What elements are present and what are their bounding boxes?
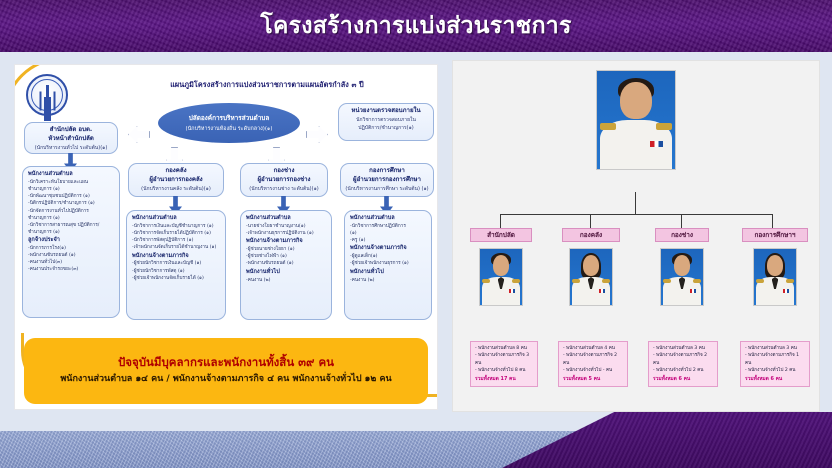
dept-2-group-2-name: พนักงานทั่วไป	[246, 268, 327, 277]
list-item: ชำนาญการ (๑)	[28, 215, 115, 222]
list-item: -ผู้ช่วยนักวิชาการเงินและบัญชี (๑)	[132, 260, 221, 267]
dept-0-subtitle: (นักบริหารงานทั่วไป ระดับต้น)(๑)	[29, 145, 113, 152]
dept-3-subtitle: (นักบริหารงานการศึกษา ระดับต้น) (๑)	[345, 186, 429, 193]
dept-2-group-1-name: พนักงานจ้างตามภารกิจ	[246, 237, 327, 246]
avatar-epaulette-left	[572, 279, 580, 283]
node-internal-audit: หน่วยงานตรวจสอบภายใน นักวิชาการตรวจสอบภา…	[338, 103, 434, 141]
list-item: -เจ้าพนักงานธุรการปฏิบัติงาน (๑)	[246, 230, 327, 237]
list-item: ชำนาญการ (๑)	[28, 229, 115, 236]
avatar-epaulette-left	[756, 279, 764, 283]
avatar-head	[493, 255, 510, 276]
node-chief-title: ปลัดองค์การบริหารส่วนตำบล	[189, 113, 270, 123]
list-item: -ผู้ช่วยนักวิชาการพัสดุ (๑)	[132, 268, 221, 275]
staff-3-stats: - พนักงานส่วนตำบล 3 คน - พนักงานจ้างตามภ…	[740, 341, 810, 387]
stat-line: - พนักงานส่วนตำบล 3 คน	[653, 345, 713, 352]
staff-0-photo	[479, 248, 523, 306]
avatar-ribbon-badge	[650, 141, 662, 148]
staff-2-photo	[660, 248, 704, 306]
list-item: -คนงานประจำรถขยะ(๓)	[28, 266, 115, 273]
list-item: -ผู้ช่วยนายช่างโยธา (๑)	[246, 246, 327, 253]
avatar-head	[583, 255, 600, 276]
list-item: -ผู้ช่วยช่างไฟฟ้า (๑)	[246, 253, 327, 260]
list-item: -นักวิชาการสาธารณสุข ปฏิบัติการ/	[28, 222, 115, 229]
stat-line: - พนักงานจ้างตามภารกิจ 3 คน	[475, 352, 533, 367]
slide-header: โครงสร้างการแบ่งส่วนราชการ	[0, 0, 832, 52]
dept-0-group-1-name: ลูกจ้างประจำ	[28, 236, 115, 245]
list-dept-education-staff: พนักงานส่วนตำบล -นักวิชาการศึกษาปฏิบัติก…	[344, 210, 432, 320]
dept-0-title: สำนักปลัด อบต.	[29, 126, 113, 135]
staff-card-works[interactable]: กองช่าง	[655, 228, 709, 242]
dept-2-subtitle: (นักบริหารงานช่าง ระดับต้น)(๑)	[245, 186, 323, 193]
dept-1-title2: ผู้อำนวยการกองคลัง	[133, 176, 219, 185]
audit-title: หน่วยงานตรวจสอบภายใน	[343, 107, 429, 116]
list-item: -นักพัฒนาชุมชนปฏิบัติการ (๑)	[28, 193, 115, 200]
staff-2-dept: กองช่าง	[655, 228, 709, 242]
list-item: ชำนาญการ (๑)	[28, 186, 115, 193]
avatar-epaulette-right	[602, 279, 610, 283]
avatar-epaulette-left	[482, 279, 490, 283]
summary-banner: ปัจจุบันมีบุคลากรและพนักงานทั้งสิ้น ๓๙ ค…	[24, 338, 428, 404]
list-item: -พนักงานขับรถยนต์ (๑)	[246, 260, 327, 267]
avatar-epaulette-left	[663, 279, 671, 283]
list-item: -นิติกรปฏิบัติการ/ชำนาญการ (๑)	[28, 200, 115, 207]
list-dept-works-staff: พนักงานส่วนตำบล -นายช่างโยธาชำนาญงาน(๑) …	[240, 210, 332, 320]
avatar-head	[767, 255, 784, 276]
avatar-head	[620, 82, 651, 119]
dept-1-title: กองคลัง	[133, 167, 219, 176]
avatar-epaulette-right	[512, 279, 520, 283]
connector-drop-1	[590, 214, 591, 228]
node-dept-finance: กองคลัง ผู้อำนวยการกองคลัง (นักบริหารงาน…	[128, 163, 224, 197]
connector-horizontal	[500, 214, 772, 215]
staff-card-office[interactable]: สำนักปลัด	[470, 228, 532, 242]
stat-line: - พนักงานจ้างทั่วไป 8 คน	[475, 367, 533, 374]
staff-1-dept: กองคลัง	[562, 228, 620, 242]
staff-0-stats: - พนักงานส่วนตำบล 8 คน - พนักงานจ้างตามภ…	[470, 341, 538, 387]
list-item: -นักวิชาการศึกษาปฏิบัติการ	[350, 223, 427, 230]
summary-breakdown-line: พนักงานส่วนตำบล ๑๔ คน / พนักงานจ้างตามภา…	[60, 373, 391, 387]
avatar-ribbon-badge	[783, 289, 790, 293]
avatar-epaulette-right	[693, 279, 701, 283]
staff-card-education[interactable]: กองการศึกษาฯ	[742, 228, 808, 242]
dept-1-group-1-name: พนักงานจ้างตามภารกิจ	[132, 252, 221, 261]
dept-0-title2: หัวหน้าสำนักปลัด	[29, 135, 113, 144]
dept-3-title2: ผู้อำนวยการกองการศึกษา	[345, 176, 429, 185]
list-dept-office-staff: พนักงานส่วนตำบล -นักวิเคราะห์นโยบายและแผ…	[22, 166, 120, 318]
list-item: -ครู (๑)	[350, 237, 427, 244]
list-item: -คนงาน (๒)	[246, 277, 327, 284]
stat-line: - พนักงานจ้างทั่วไป - คน	[563, 367, 623, 374]
node-dept-education: กองการศึกษา ผู้อำนวยการกองการศึกษา (นักบ…	[340, 163, 434, 197]
connector-drop-2	[681, 214, 682, 228]
avatar-ribbon-badge	[509, 289, 516, 293]
chief-photo	[596, 70, 676, 170]
list-item: -คนงาน (๒)	[350, 277, 427, 284]
list-item: -นักวิชาการพัสดุปฏิบัติการ (๑)	[132, 237, 221, 244]
node-dept-office: สำนักปลัด อบต. หัวหน้าสำนักปลัด (นักบริห…	[24, 122, 118, 154]
avatar-epaulette-right	[656, 123, 672, 130]
list-item: -นักจัดการงานทั่วไปปฏิบัติการ	[28, 208, 115, 215]
list-item: -ผู้ช่วยเจ้าพนักงานจัดเก็บรายได้ (๑)	[132, 275, 221, 282]
stat-line: - พนักงานจ้างตามภารกิจ 2 คน	[563, 352, 623, 367]
list-item: -นายช่างโยธาชำนาญงาน(๑)	[246, 223, 327, 230]
staff-0-dept: สำนักปลัด	[470, 228, 532, 242]
audit-subtitle-1: นักวิชาการตรวจสอบภายใน	[343, 117, 429, 124]
dept-1-group-0-name: พนักงานส่วนตำบล	[132, 214, 221, 223]
summary-total-line: ปัจจุบันมีบุคลากรและพนักงานทั้งสิ้น ๓๙ ค…	[118, 355, 334, 370]
list-item: -นักวิเคราะห์นโยบายและแผน	[28, 179, 115, 186]
stat-line: - พนักงานส่วนตำบล 8 คน	[475, 345, 533, 352]
stat-total: รวมทั้งหมด 17 คน	[475, 375, 533, 383]
chart-heading: แผนภูมิโครงสร้างการแบ่งส่วนราชการตามแผนอ…	[112, 80, 422, 91]
dept-2-title2: ผู้อำนวยการกองช่าง	[245, 176, 323, 185]
staff-2-stats: - พนักงานส่วนตำบล 3 คน - พนักงานจ้างตามภ…	[648, 341, 718, 387]
avatar-ribbon-badge	[690, 289, 697, 293]
staff-card-finance[interactable]: กองคลัง	[562, 228, 620, 242]
avatar-epaulette-left	[600, 123, 616, 130]
list-item: -ผู้ดูแลเด็ก(๑)	[350, 253, 427, 260]
slide-root: โครงสร้างการแบ่งส่วนราชการ แผนภูมิโครงสร…	[0, 0, 832, 468]
connector-vertical-main	[635, 192, 636, 214]
staff-1-stats: - พนักงานส่วนตำบล 4 คน - พนักงานจ้างตามภ…	[558, 341, 628, 387]
stat-line: - พนักงานจ้างทั่วไป 2 คน	[745, 367, 805, 374]
stat-total: รวมทั้งหมด 5 คน	[563, 375, 623, 383]
dept-3-group-0-name: พนักงานส่วนตำบล	[350, 214, 427, 223]
stat-line: - พนักงานส่วนตำบล 3 คน	[745, 345, 805, 352]
dept-0-group-0-name: พนักงานส่วนตำบล	[28, 170, 115, 179]
staff-3-dept: กองการศึกษาฯ	[742, 228, 808, 242]
list-item: -นักวิชาการจัดเก็บรายได้ปฏิบัติการ (๑)	[132, 230, 221, 237]
stat-line: - พนักงานจ้างทั่วไป 2 คน	[653, 367, 713, 374]
stat-line: - พนักงานส่วนตำบล 4 คน	[563, 345, 623, 352]
staff-1-photo	[569, 248, 613, 306]
list-item: -นักวิชาการเงินและบัญชีชำนาญการ (๑)	[132, 223, 221, 230]
dept-1-subtitle: (นักบริหารงานคลัง ระดับต้น)(๑)	[133, 186, 219, 193]
stat-total: รวมทั้งหมด 6 คน	[745, 375, 805, 383]
audit-subtitle-2: ปฏิบัติการ/ชำนาญการ(๑)	[343, 125, 429, 132]
list-item: -คนงานทั่วไป(๓)	[28, 259, 115, 266]
dept-3-group-2-name: พนักงานทั่วไป	[350, 268, 427, 277]
list-item: -พนักงานขับรถยนต์ (๑)	[28, 252, 115, 259]
list-item: -เจ้าพนักงานจัดเก็บรายได้ชำนาญงาน (๑)	[132, 244, 221, 251]
connector-drop-0	[500, 214, 501, 228]
municipality-seal-icon	[26, 74, 68, 116]
staff-3-photo	[753, 248, 797, 306]
stat-total: รวมทั้งหมด 6 คน	[653, 375, 713, 383]
avatar-ribbon-badge	[599, 289, 606, 293]
dept-3-title: กองการศึกษา	[345, 167, 429, 176]
stat-line: - พนักงานจ้างตามภารกิจ 2 คน	[653, 352, 713, 367]
list-item: -นักการภารโรง(๑)	[28, 245, 115, 252]
node-chief-administrator: ปลัดองค์การบริหารส่วนตำบล (นักบริหารงานท…	[158, 103, 300, 143]
list-item: (๑)	[350, 230, 427, 237]
avatar-head	[674, 255, 691, 276]
page-title: โครงสร้างการแบ่งส่วนราชการ	[260, 15, 571, 38]
dept-2-group-0-name: พนักงานส่วนตำบล	[246, 214, 327, 223]
list-item: -ผู้ช่วยเจ้าพนักงานธุรการ (๑)	[350, 260, 427, 267]
list-dept-finance-staff: พนักงานส่วนตำบล -นักวิชาการเงินและบัญชีช…	[126, 210, 226, 320]
dept-2-title: กองช่าง	[245, 167, 323, 176]
stat-line: - พนักงานจ้างตามภารกิจ 1 คน	[745, 352, 805, 367]
node-chief-subtitle: (นักบริหารงานท้องถิ่น ระดับกลาง)(๑)	[186, 125, 273, 133]
avatar-epaulette-right	[786, 279, 794, 283]
node-dept-works: กองช่าง ผู้อำนวยการกองช่าง (นักบริหารงาน…	[240, 163, 328, 197]
connector-drop-3	[772, 214, 773, 228]
dept-3-group-1-name: พนักงานจ้างตามภารกิจ	[350, 244, 427, 253]
